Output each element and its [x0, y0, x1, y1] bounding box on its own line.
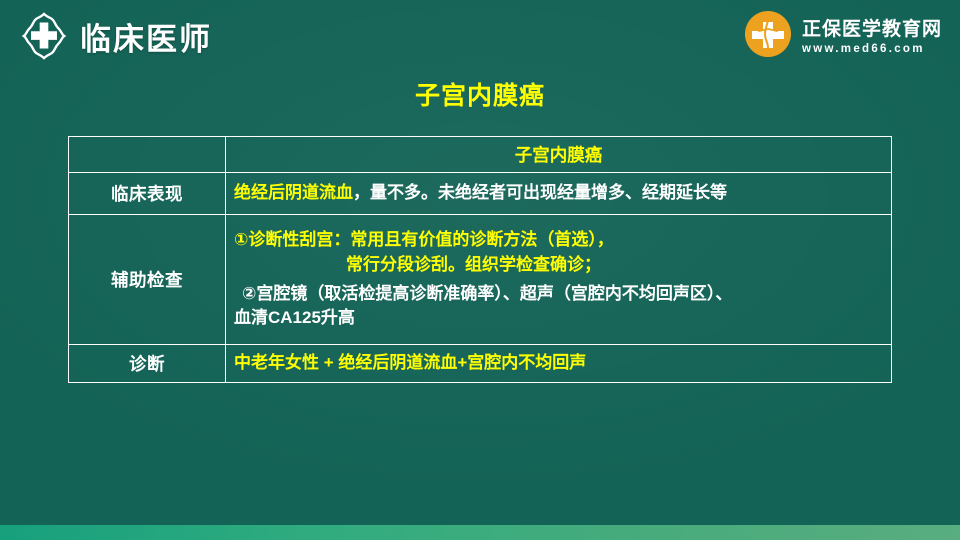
row-value-clinical: 绝经后阴道流血，量不多。未绝经者可出现经量增多、经期延长等 — [226, 173, 892, 215]
table-header-value-cell: 子宫内膜癌 — [226, 137, 892, 173]
exam-line-2: 常行分段诊刮。组织学检查确诊； — [234, 253, 883, 278]
brand-right: 正保医学教育网 www.med66.com — [743, 9, 942, 59]
exam-line-1: ①诊断性刮宫：常用且有价值的诊断方法（首选）， — [234, 228, 883, 253]
row-value-exam: ①诊断性刮宫：常用且有价值的诊断方法（首选）， 常行分段诊刮。组织学检查确诊； … — [226, 215, 892, 345]
medical-cross-diamond-icon — [20, 12, 68, 60]
clinical-highlight-text: 绝经后阴道流血 — [234, 183, 353, 202]
table-row: 子宫内膜癌 — [69, 137, 892, 173]
clinical-rest-text: ，量不多。未绝经者可出现经量增多、经期延长等 — [353, 183, 727, 202]
brand-right-name: 正保医学教育网 — [802, 14, 942, 41]
table-row: 诊断 中老年女性 + 绝经后阴道流血+宫腔内不均回声 — [69, 345, 892, 383]
table-row: 临床表现 绝经后阴道流血，量不多。未绝经者可出现经量增多、经期延长等 — [69, 173, 892, 215]
table-header-label-cell — [69, 137, 226, 173]
brand-right-words: 正保医学教育网 www.med66.com — [802, 14, 942, 55]
brand-left: 临床医师 — [20, 12, 212, 60]
table-row: 辅助检查 ①诊断性刮宫：常用且有价值的诊断方法（首选）， 常行分段诊刮。组织学检… — [69, 215, 892, 345]
info-table: 子宫内膜癌 临床表现 绝经后阴道流血，量不多。未绝经者可出现经量增多、经期延长等… — [68, 136, 892, 383]
row-label-clinical: 临床表现 — [69, 173, 226, 215]
exam-line-4: 血清CA125升高 — [234, 306, 883, 331]
info-table-container: 子宫内膜癌 临床表现 绝经后阴道流血，量不多。未绝经者可出现经量增多、经期延长等… — [68, 136, 892, 383]
exam-line-3: ②宫腔镜（取活检提高诊断准确率）、超声（宫腔内不均回声区）、 — [234, 282, 883, 307]
footer-accent-bar — [0, 525, 960, 540]
row-label-diagnosis: 诊断 — [69, 345, 226, 383]
orange-circle-cross-icon — [743, 9, 793, 59]
brand-left-label: 临床医师 — [80, 14, 212, 59]
row-value-diagnosis: 中老年女性 + 绝经后阴道流血+宫腔内不均回声 — [226, 345, 892, 383]
brand-right-url: www.med66.com — [802, 43, 942, 55]
row-label-exam: 辅助检查 — [69, 215, 226, 345]
page-title: 子宫内膜癌 — [0, 76, 960, 112]
slide-header: 临床医师 正保医学教育网 www.med66.com — [0, 0, 960, 72]
